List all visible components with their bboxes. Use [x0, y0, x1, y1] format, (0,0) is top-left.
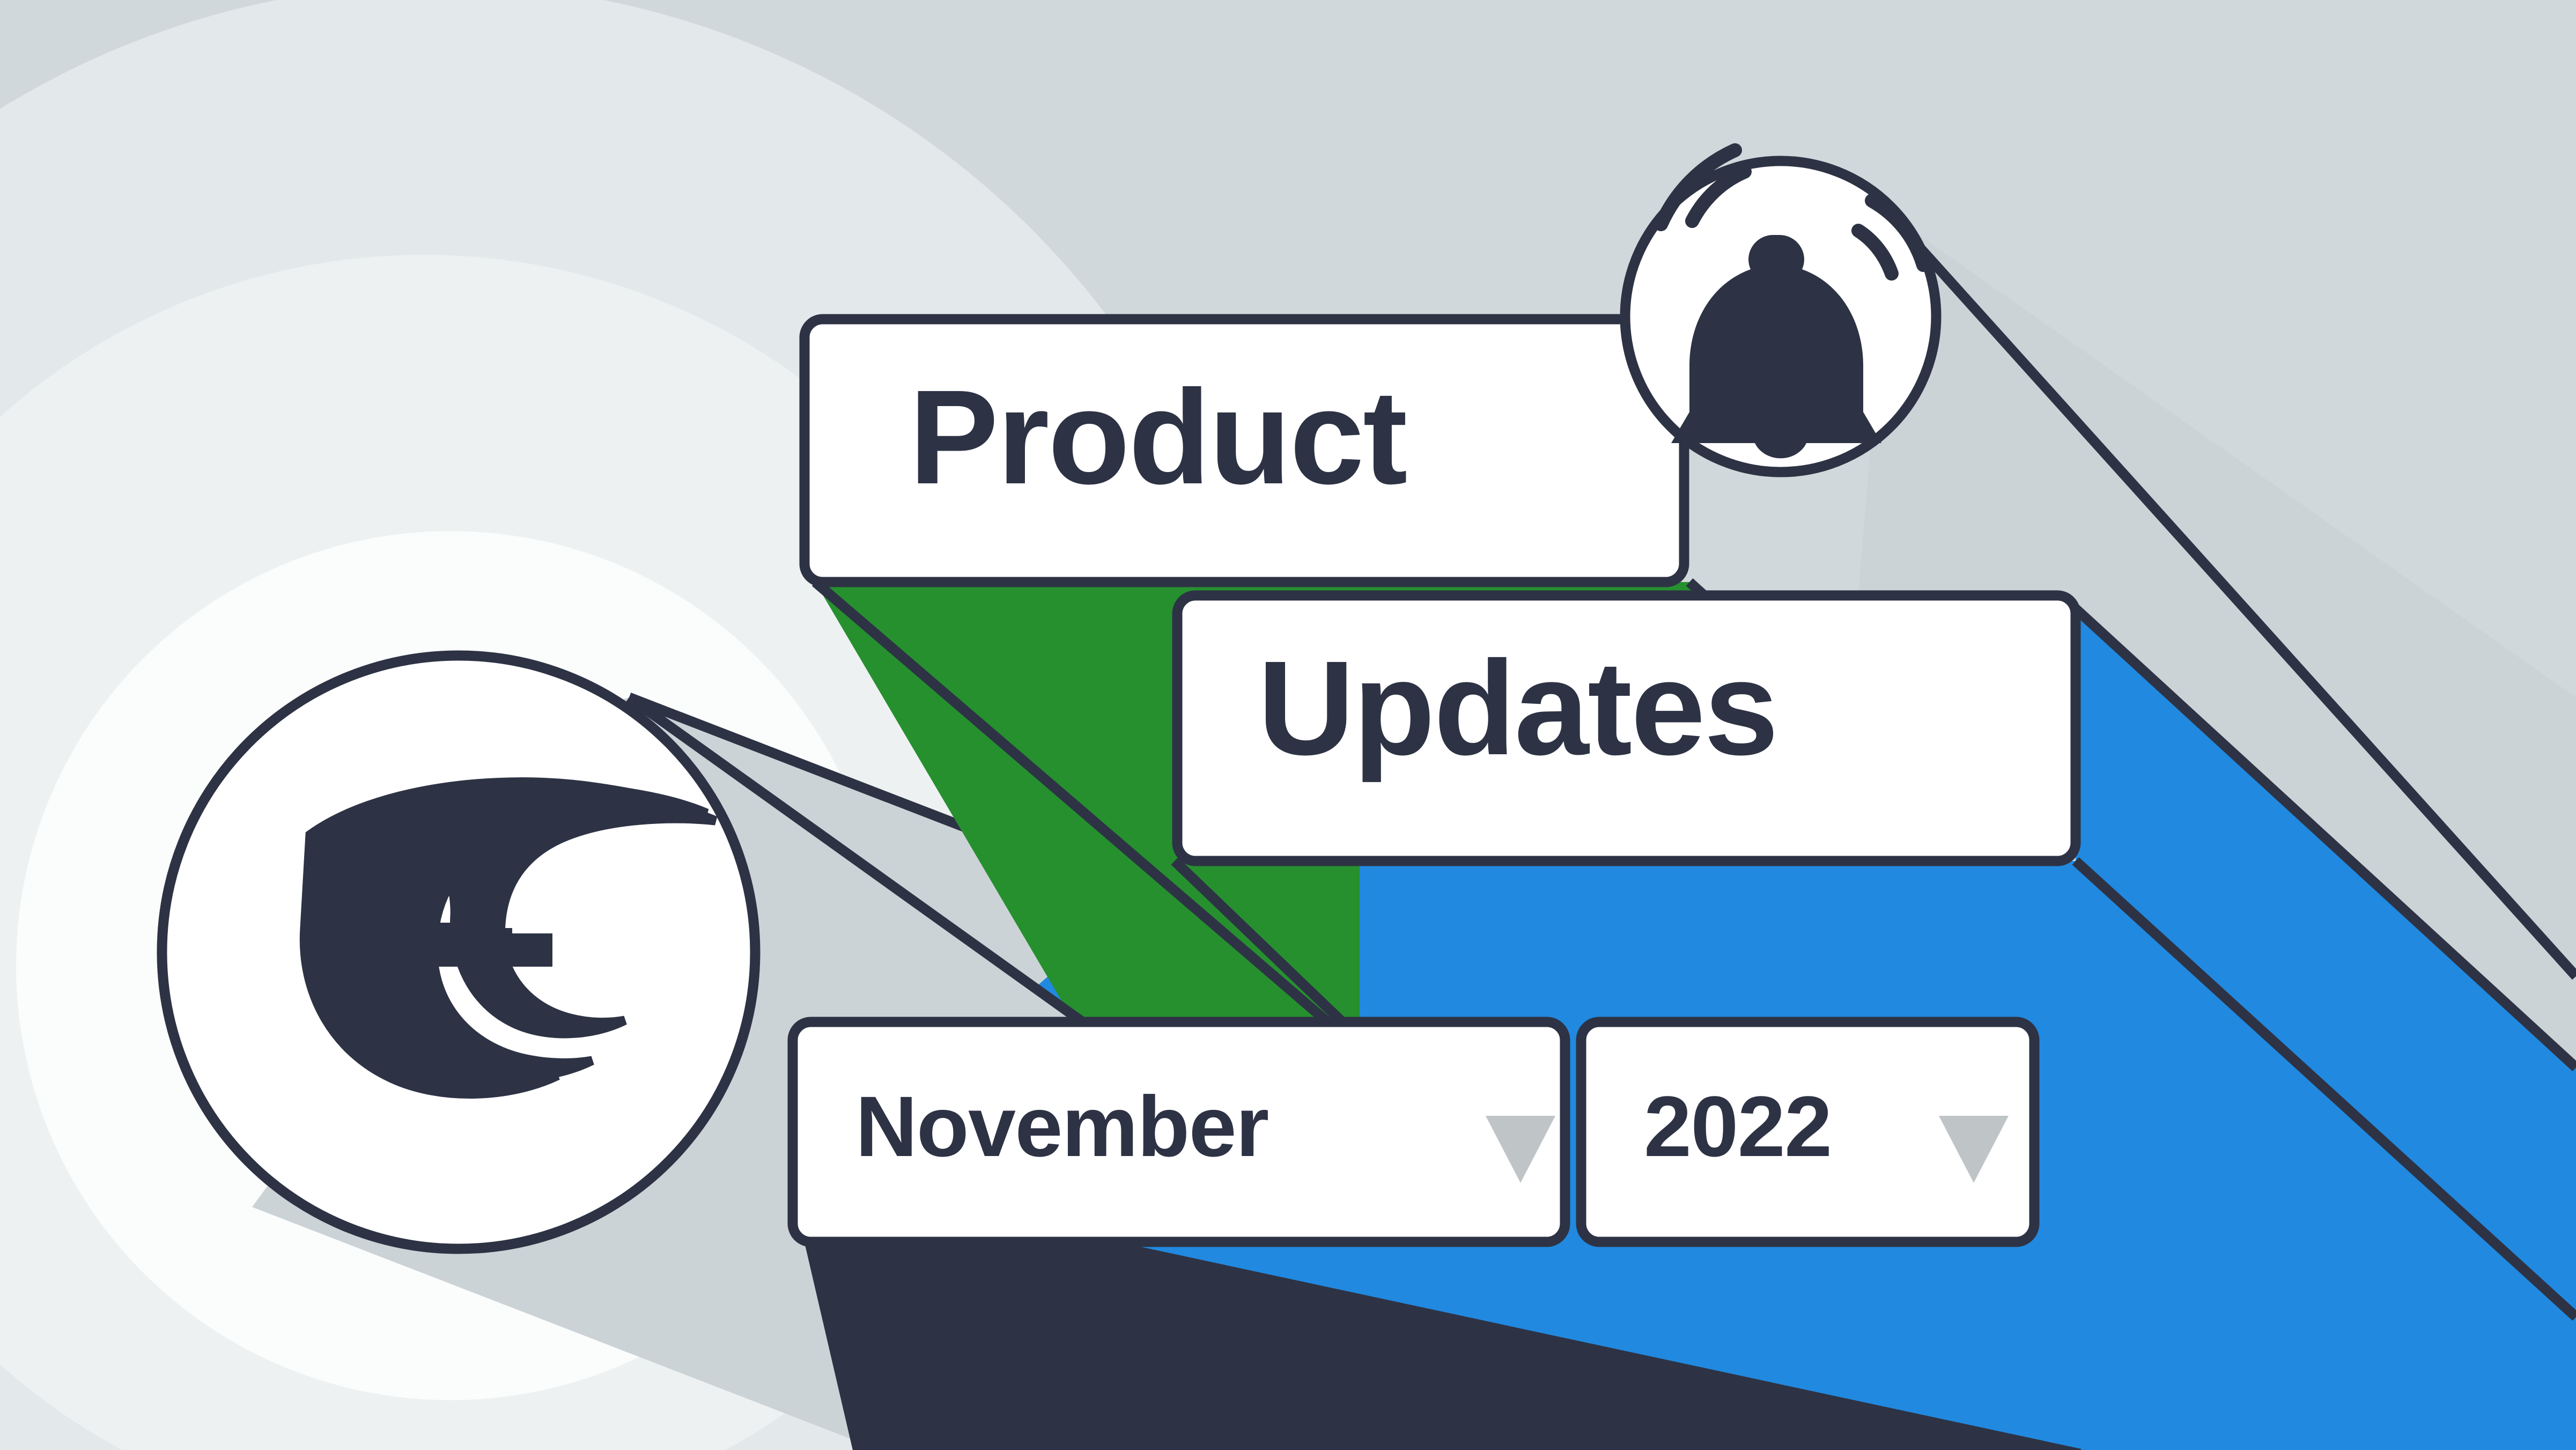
product-updates-banner: Product Updates November 2022 — [0, 0, 2576, 1450]
page-title-line-2: Updates — [1258, 641, 1777, 775]
year-select-value[interactable]: 2022 — [1644, 1084, 1832, 1169]
month-select-value[interactable]: November — [855, 1084, 1268, 1169]
page-title-line-1: Product — [909, 370, 1406, 504]
